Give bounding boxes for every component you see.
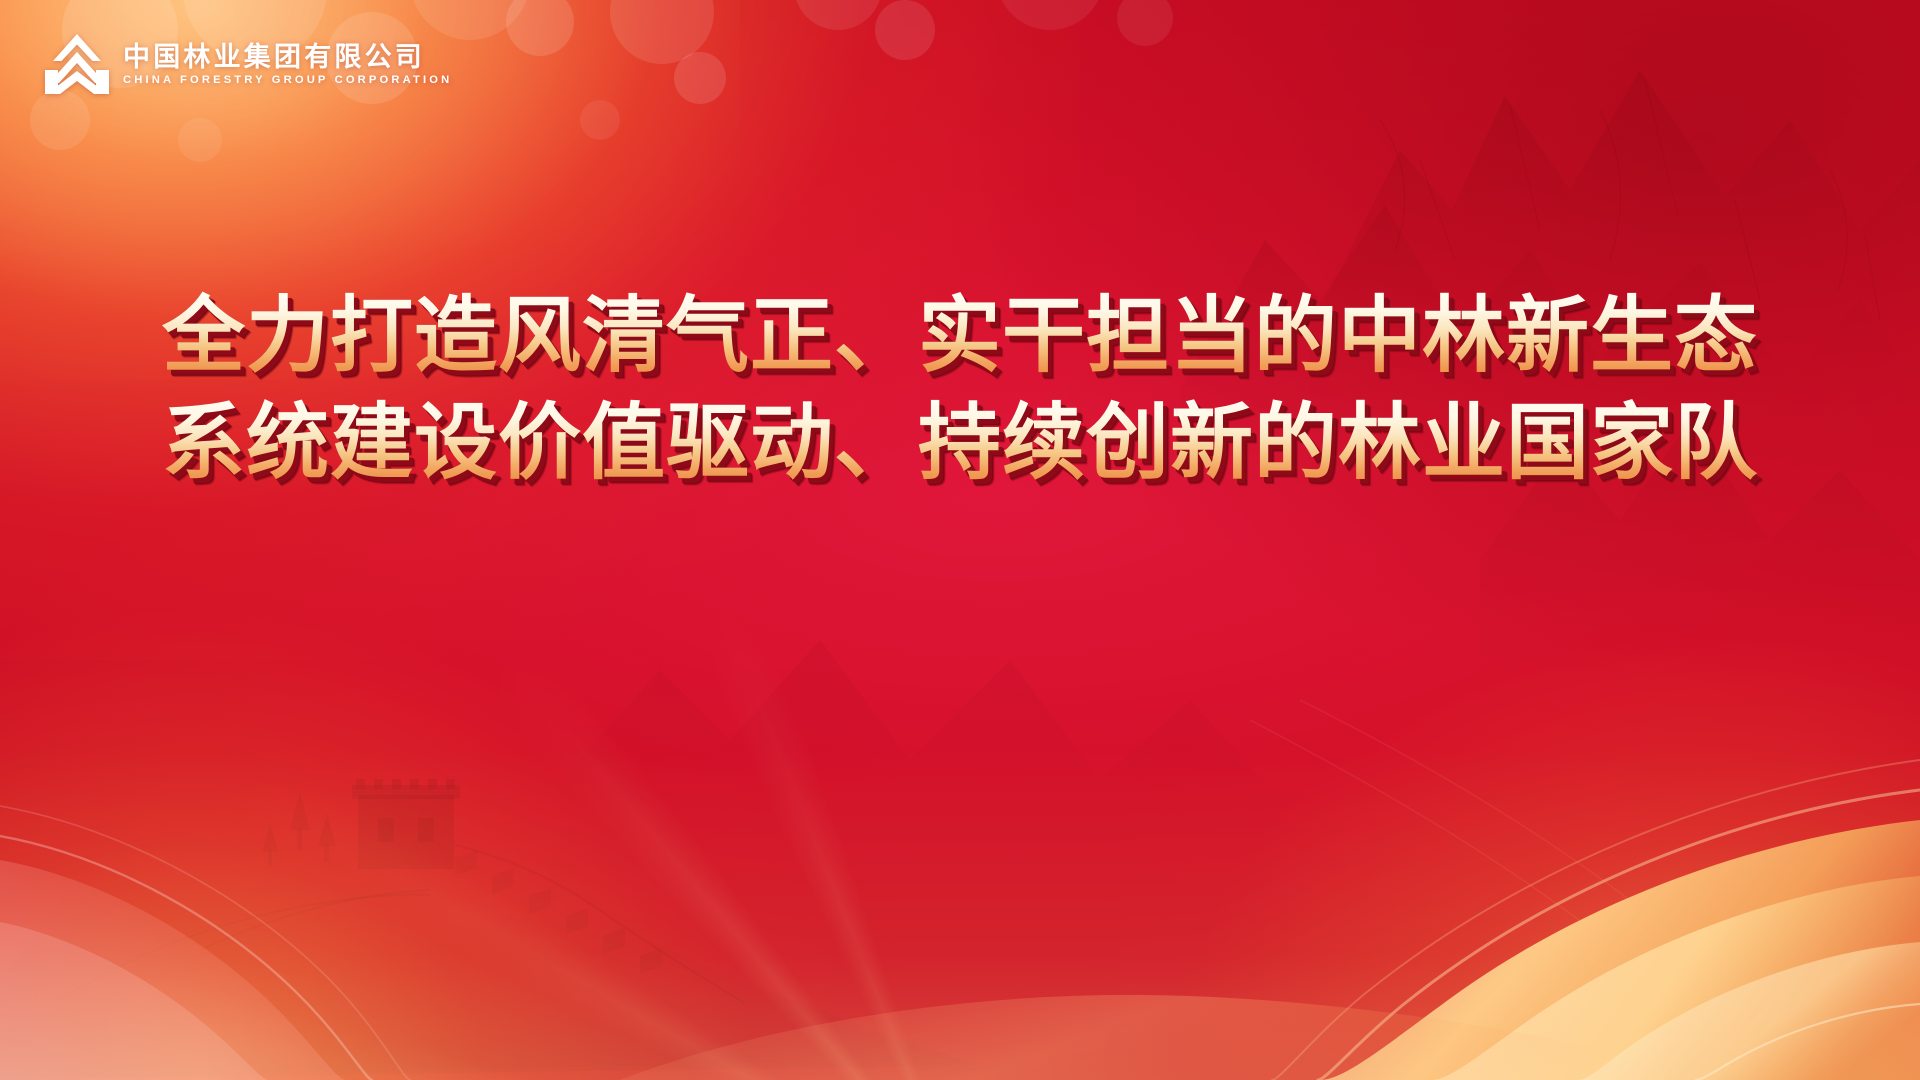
headline-line-2-gold: 系统建设价值驱动、持续创新的林业国家队 [162, 397, 1758, 490]
banner-canvas: 中国林业集团有限公司 CHINA FORESTRY GROUP CORPORAT… [0, 0, 1920, 1080]
headline-line-2: 系统建设价值驱动、持续创新的林业国家队 系统建设价值驱动、持续创新的林业国家队 [162, 397, 1758, 490]
bokeh-circles [0, 0, 1920, 1080]
headline-line-1-gold: 全力打造风清气正、实干担当的中林新生态 [162, 290, 1758, 383]
brand-logo[interactable]: 中国林业集团有限公司 CHINA FORESTRY GROUP CORPORAT… [45, 33, 452, 95]
headline-line-1: 全力打造风清气正、实干担当的中林新生态 全力打造风清气正、实干担当的中林新生态 [162, 290, 1758, 383]
headline-block: 全力打造风清气正、实干担当的中林新生态 全力打造风清气正、实干担当的中林新生态 … [0, 290, 1920, 490]
china-forestry-group-mountain-icon [45, 33, 109, 95]
logo-wordmark: 中国林业集团有限公司 CHINA FORESTRY GROUP CORPORAT… [123, 42, 452, 86]
logo-name-en: CHINA FORESTRY GROUP CORPORATION [123, 75, 452, 86]
logo-name-cn: 中国林业集团有限公司 [123, 44, 452, 71]
